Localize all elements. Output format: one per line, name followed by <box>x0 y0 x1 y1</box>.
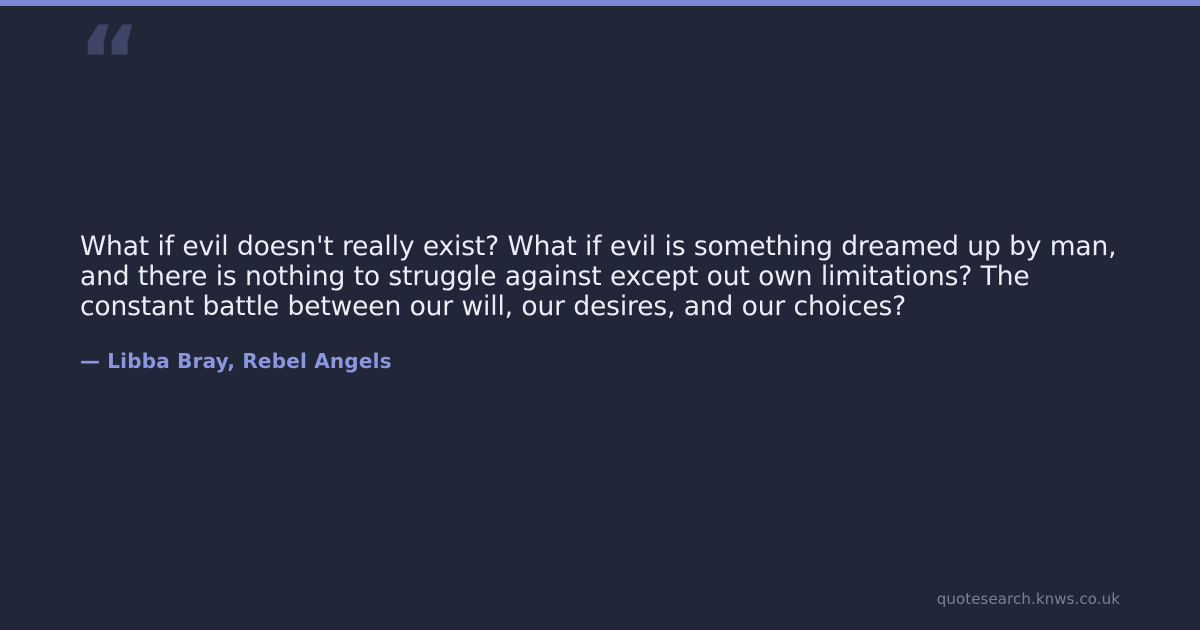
quote-card: “ What if evil doesn't really exist? Wha… <box>0 0 1200 630</box>
source-website-label: quotesearch.knws.co.uk <box>937 590 1120 608</box>
open-quote-icon: “ <box>78 14 139 110</box>
attribution-author-and-work: Libba Bray, Rebel Angels <box>107 349 392 373</box>
top-accent-bar <box>0 0 1200 6</box>
quote-attribution: —Libba Bray, Rebel Angels <box>80 348 392 374</box>
attribution-dash: — <box>80 348 100 374</box>
quote-body-text: What if evil doesn't really exist? What … <box>80 232 1128 322</box>
